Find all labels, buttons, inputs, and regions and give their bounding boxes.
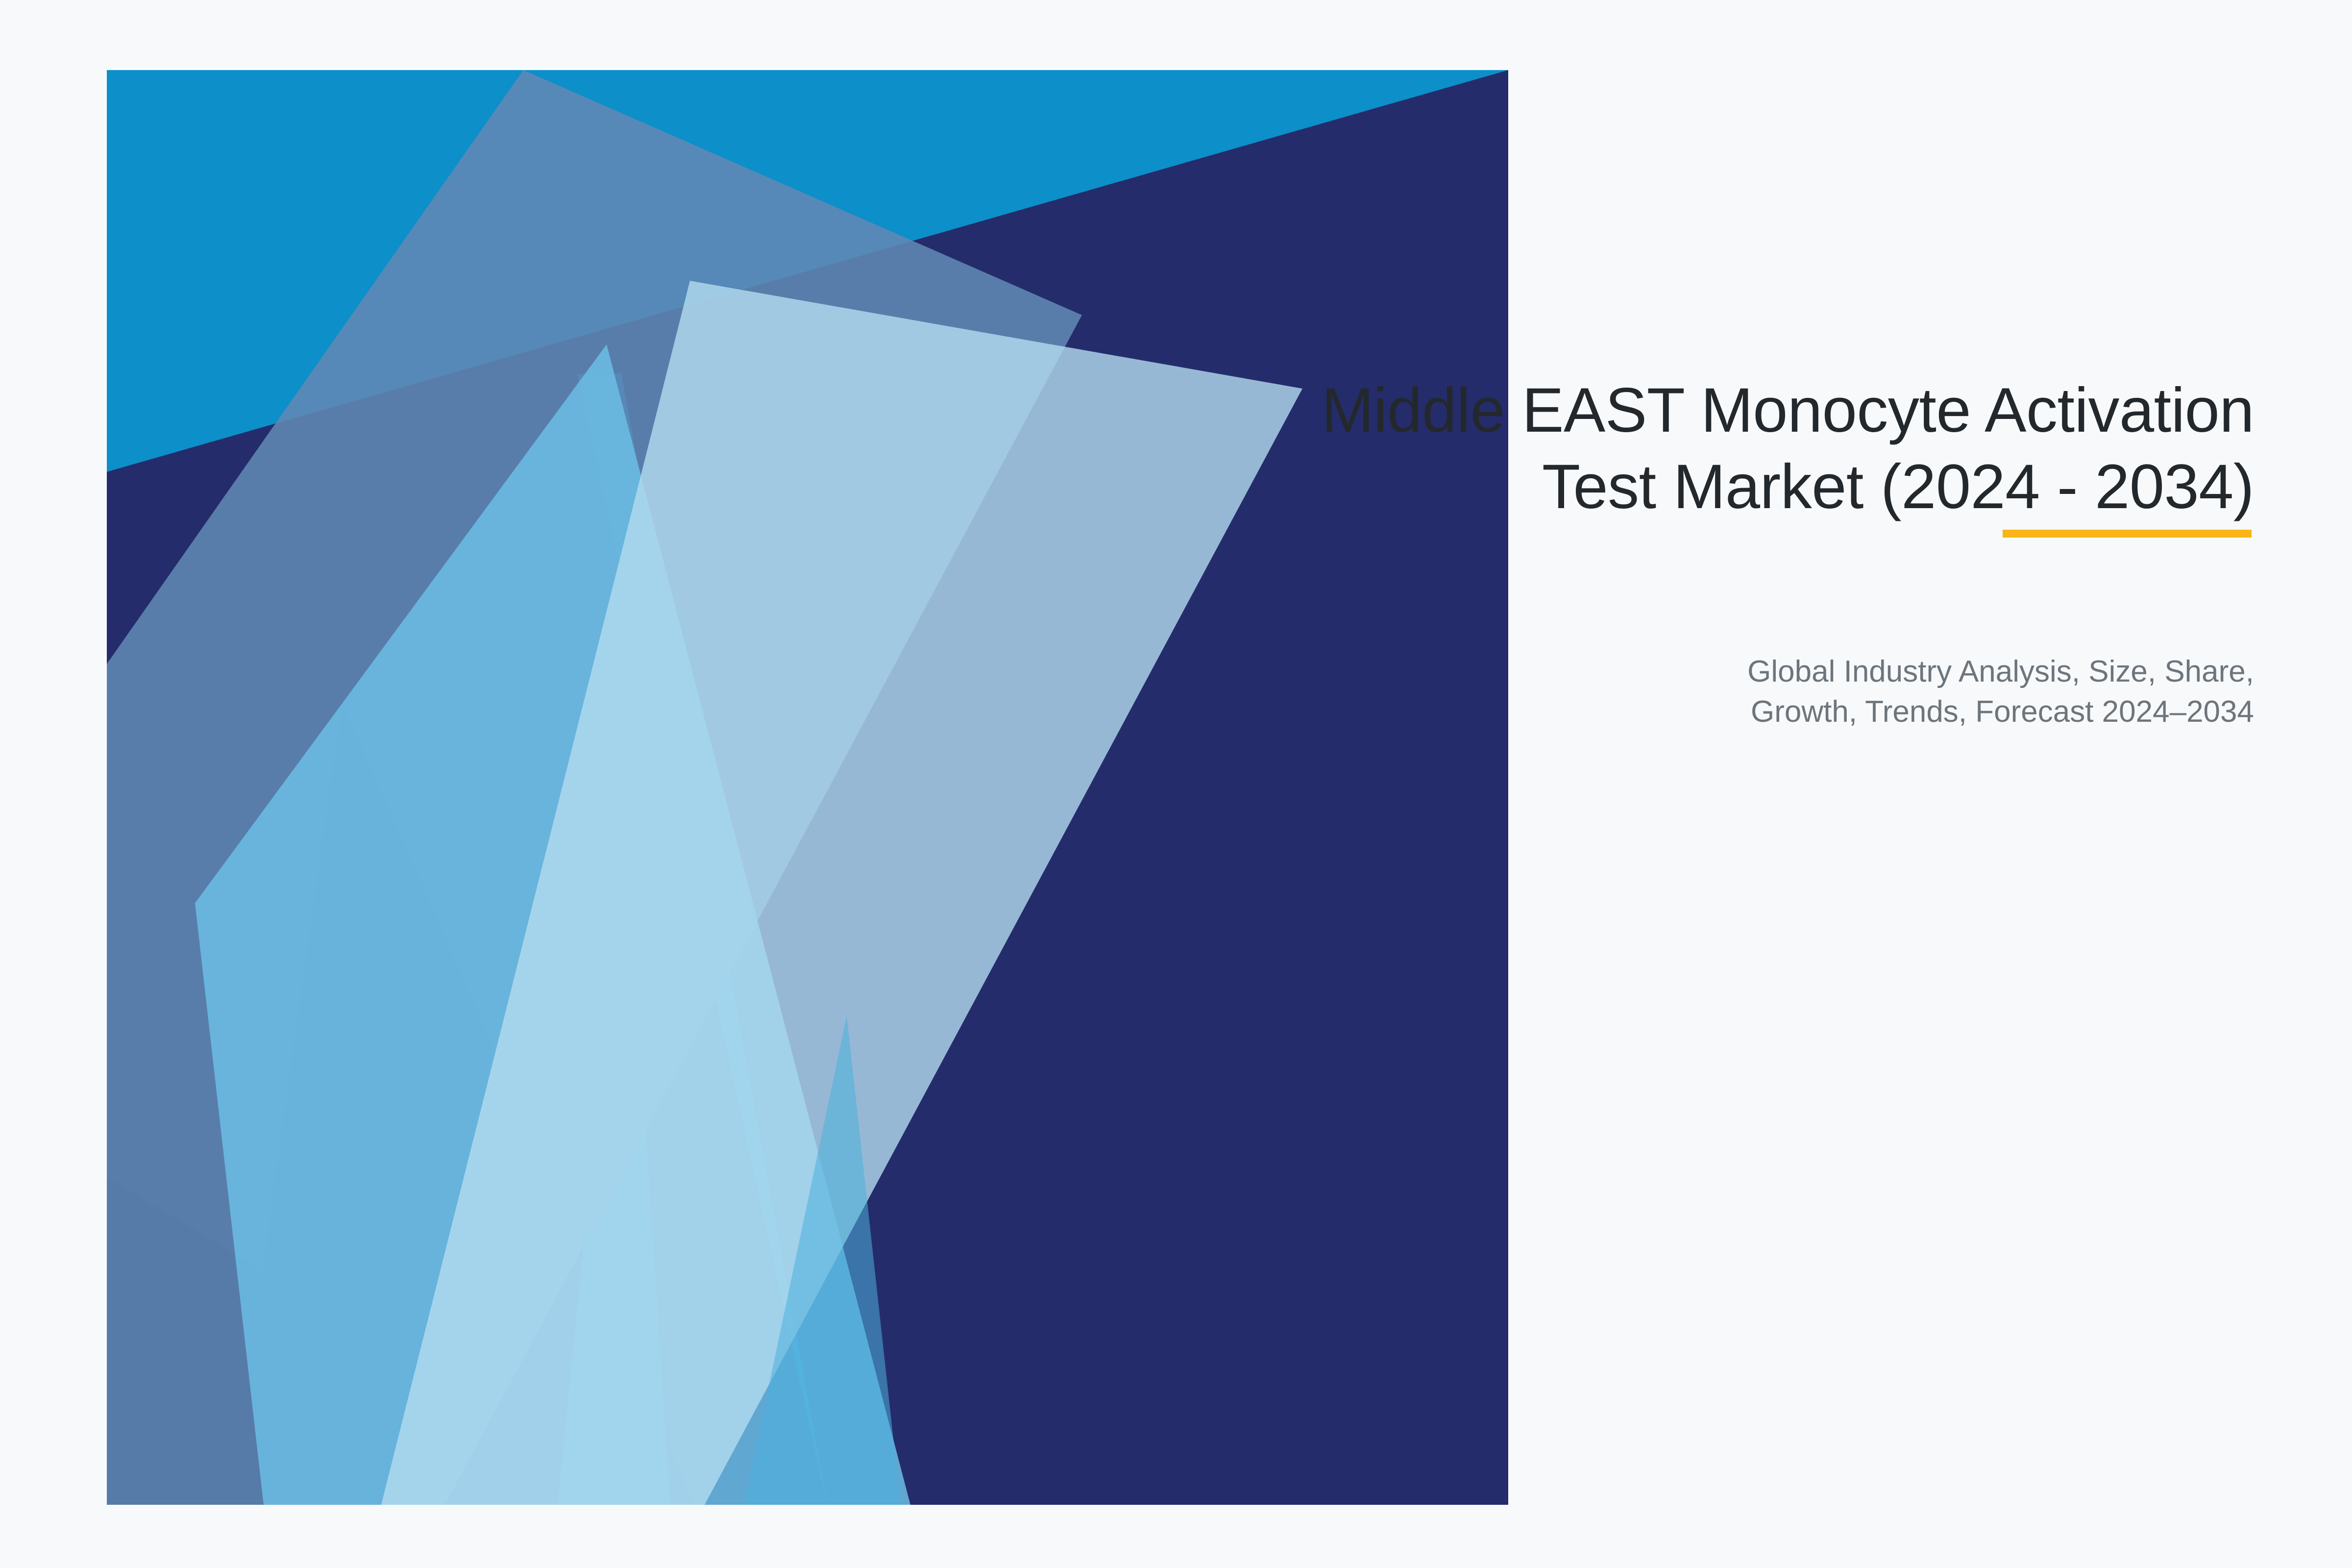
cover-text-block: Middle EAST Monocyte Activation Test Mar… (931, 372, 2254, 525)
artwork-shape-group (107, 70, 1508, 1505)
abstract-geometric-banner (107, 70, 1508, 1505)
accent-underline-bar (2003, 530, 2252, 538)
page-subtitle: Global Industry Analysis, Size, Share, G… (931, 652, 2254, 733)
page-title: Middle EAST Monocyte Activation Test Mar… (931, 372, 2254, 525)
cover-page: Middle EAST Monocyte Activation Test Mar… (0, 0, 2352, 1568)
artwork-canvas (107, 70, 1508, 1505)
